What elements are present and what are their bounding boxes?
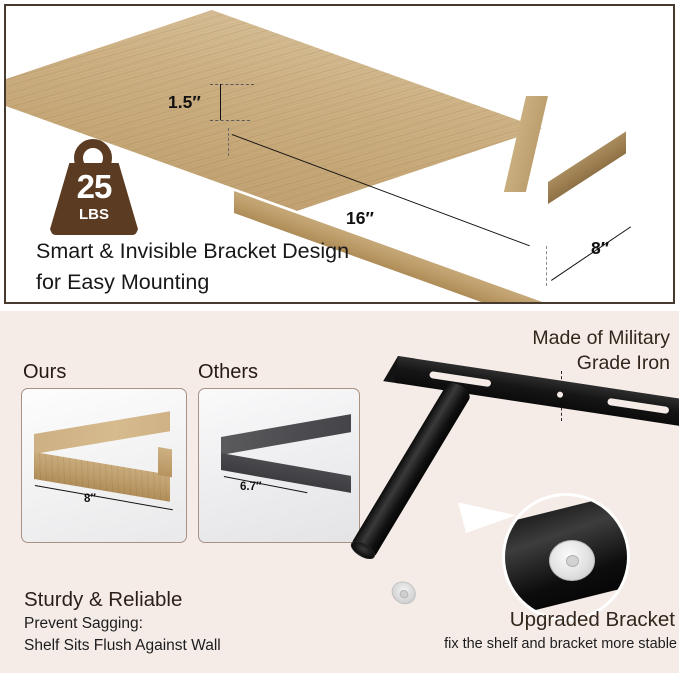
sturdy-sub-line-1: Prevent Sagging:: [24, 613, 221, 635]
sturdy-subtext: Prevent Sagging: Shelf Sits Flush Agains…: [24, 613, 221, 658]
upgraded-bracket-subtext: fix the shelf and bracket more stable: [350, 636, 677, 652]
headline-line-2: for Easy Mounting: [36, 267, 466, 298]
bracket-center-hole: [557, 391, 564, 398]
bracket-slot-right: [607, 398, 669, 414]
bracket-screw: [387, 577, 420, 609]
ours-shelf-front: [34, 452, 170, 502]
top-panel: 1.5″ 16″ 8″ 25 LBS Smart & Invisible Bra…: [4, 4, 675, 304]
top-headline: Smart & Invisible Bracket Design for Eas…: [36, 236, 466, 297]
thickness-bar: [220, 84, 221, 120]
weight-value: 25: [48, 170, 140, 203]
headline-line-1: Smart & Invisible Bracket Design: [36, 236, 466, 267]
others-dimension-label: 6.7″: [240, 481, 262, 493]
military-grade-title: Made of Military Grade Iron: [470, 326, 670, 376]
bracket-screw-center: [398, 588, 410, 599]
sturdy-sub-line-2: Shelf Sits Flush Against Wall: [24, 635, 221, 657]
bracket-illustration: Made of Military Grade Iron Upgraded Bra…: [350, 311, 679, 673]
magnified-screw: [549, 540, 595, 581]
card-ours: 8″: [21, 388, 187, 543]
magnifier-callout: [502, 493, 630, 621]
bracket-support-rod: [349, 379, 473, 561]
shelf-right-upper-face: [504, 96, 548, 192]
ours-shelf-top: [34, 411, 170, 454]
dimension-thickness: 1.5″: [168, 92, 201, 113]
sturdy-heading: Sturdy & Reliable: [24, 588, 182, 612]
thickness-guide-top: [210, 84, 254, 85]
shelf-right-edge: [548, 131, 626, 204]
bracket-rod-tip: [348, 538, 378, 563]
label-others: Others: [198, 361, 258, 384]
label-ours: Ours: [23, 361, 66, 384]
weight-unit: LBS: [48, 207, 140, 222]
ours-dimension-label: 8″: [84, 493, 96, 505]
thickness-guide-bottom: [210, 120, 250, 121]
dimension-length: 16″: [346, 208, 374, 229]
military-title-line-1: Made of Military: [470, 326, 670, 351]
upgraded-bracket-title: Upgraded Bracket: [350, 608, 675, 632]
magnified-screw-center: [566, 555, 579, 567]
depth-guide: [546, 246, 547, 286]
weight-capacity-badge: 25 LBS: [48, 139, 140, 235]
others-shelf-top: [221, 414, 351, 455]
product-infographic: 1.5″ 16″ 8″ 25 LBS Smart & Invisible Bra…: [0, 0, 679, 673]
length-guide: [228, 128, 229, 156]
dimension-depth: 8″: [591, 238, 609, 259]
ours-shelf-end: [158, 447, 172, 477]
card-others: 6.7″: [198, 388, 360, 543]
